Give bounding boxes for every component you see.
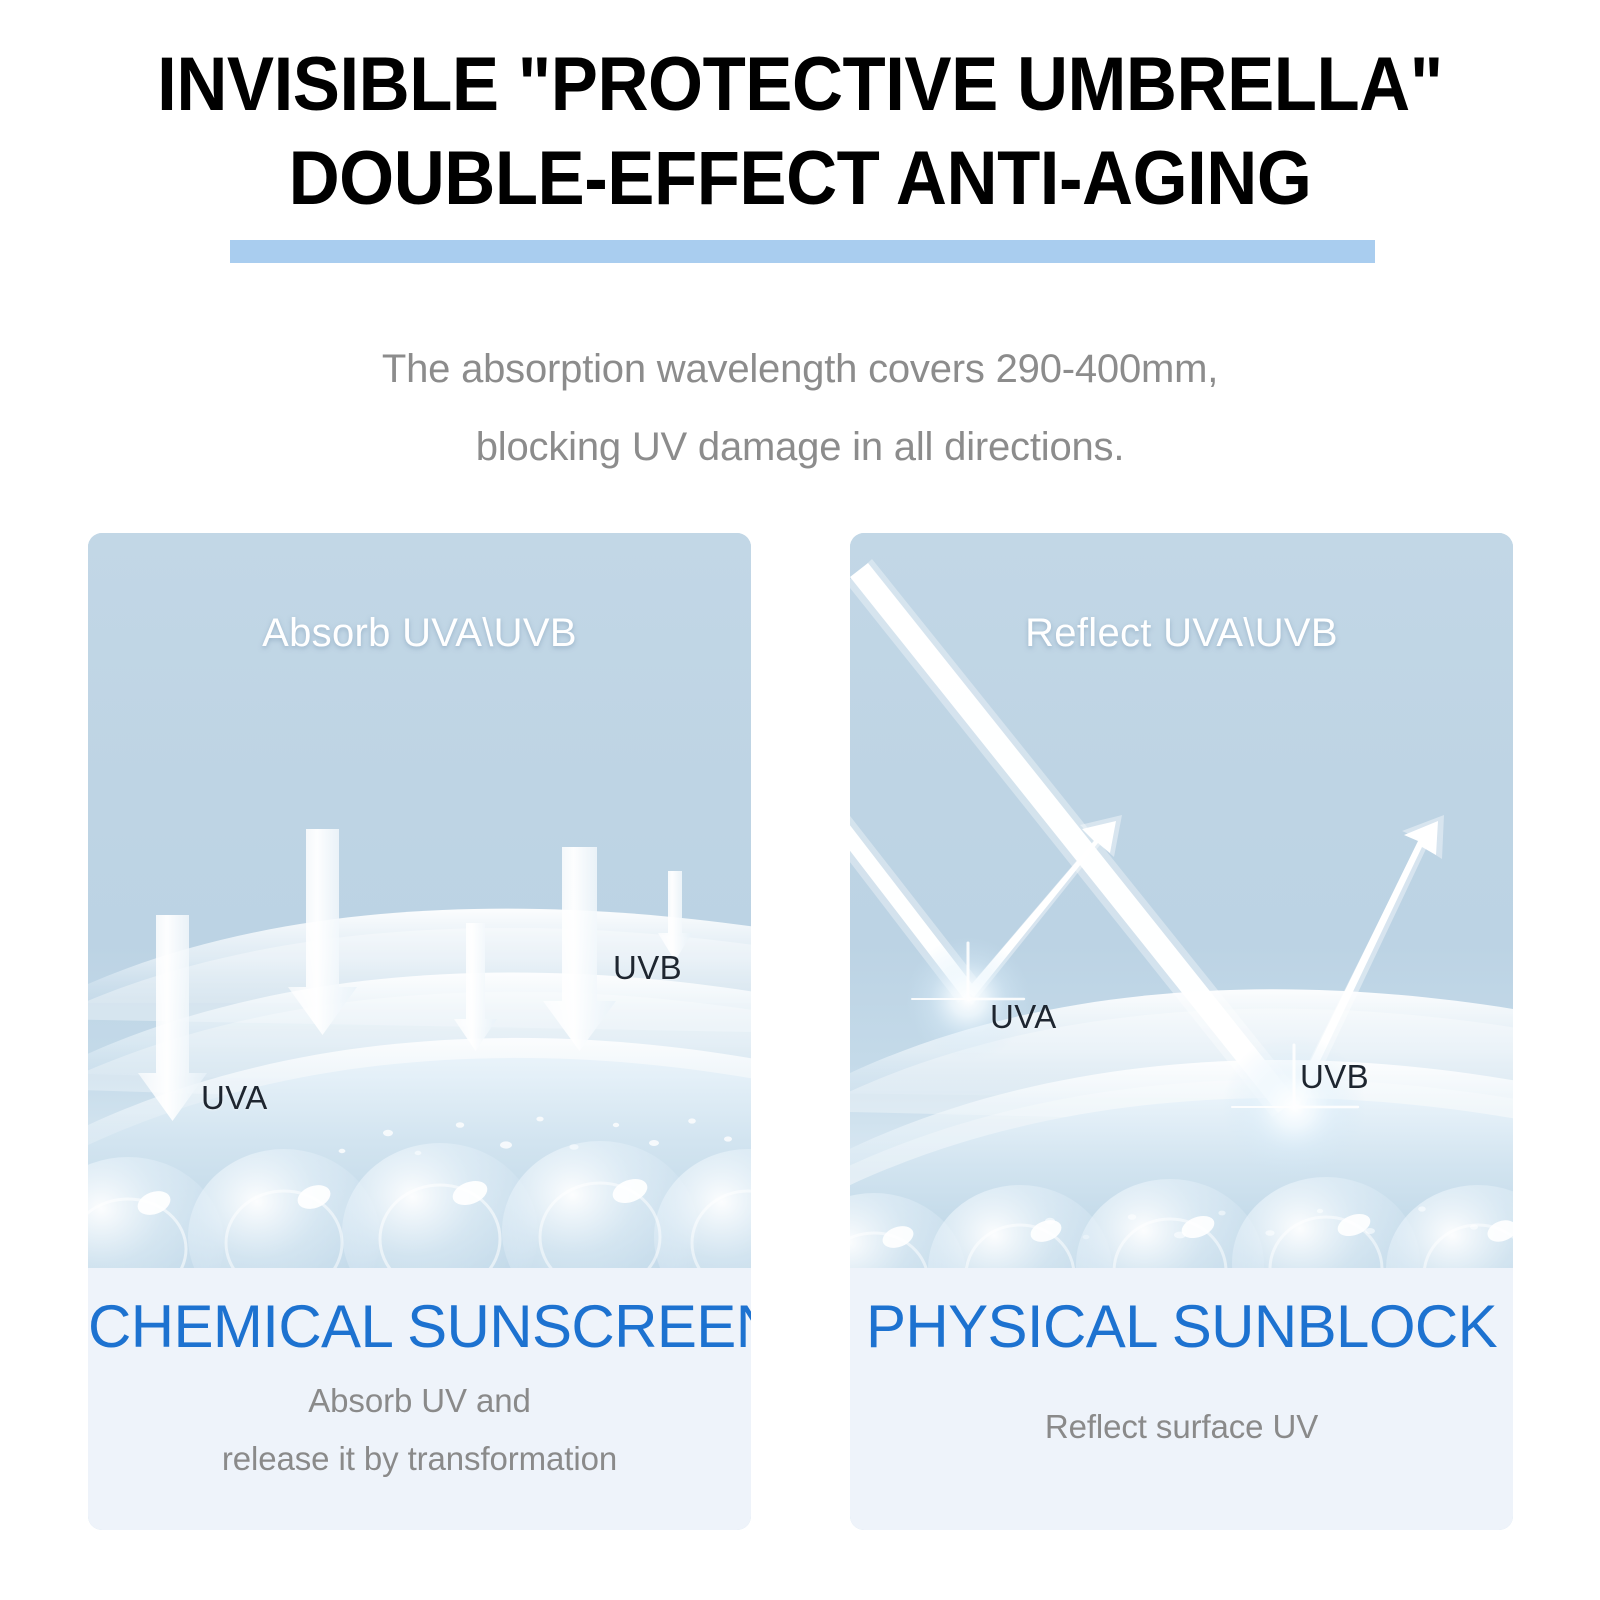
card-physical-sunblock[interactable]: Reflect UVA\UVB UVA UVB PHYSICAL SUNBLOC… (850, 533, 1513, 1530)
comparison-cards: Absorb UVA\UVB UVB UVA CHEMICAL SUNSCREE… (0, 533, 1600, 1533)
page-subtitle-line-1: The absorption wavelength covers 290-400… (0, 330, 1600, 408)
uva-label-physical: UVA (990, 998, 1057, 1036)
physical-illustration: Reflect UVA\UVB UVA UVB (850, 533, 1513, 1268)
physical-description: Reflect surface UV (850, 1398, 1513, 1456)
page-title: INVISIBLE "PROTECTIVE UMBRELLA" DOUBLE-E… (0, 38, 1600, 226)
physical-description-line-1: Reflect surface UV (850, 1398, 1513, 1456)
title-underline-bar (230, 240, 1375, 263)
page-subtitle-line-2: blocking UV damage in all directions. (0, 408, 1600, 486)
chemical-footer: CHEMICAL SUNSCREEN Absorb UV and release… (88, 1268, 751, 1530)
physical-heading: PHYSICAL SUNBLOCK (850, 1290, 1513, 1364)
chemical-heading: CHEMICAL SUNSCREEN (88, 1290, 751, 1364)
card-chemical-sunscreen[interactable]: Absorb UVA\UVB UVB UVA CHEMICAL SUNSCREE… (88, 533, 751, 1530)
page-title-line-2: DOUBLE-EFFECT ANTI-AGING (56, 132, 1544, 226)
page-title-line-1: INVISIBLE "PROTECTIVE UMBRELLA" (56, 38, 1544, 132)
physical-footer: PHYSICAL SUNBLOCK Reflect surface UV (850, 1268, 1513, 1530)
chemical-description: Absorb UV and release it by transformati… (88, 1372, 751, 1488)
chemical-description-line-1: Absorb UV and (88, 1372, 751, 1430)
uvb-label-physical: UVB (1300, 1058, 1369, 1096)
uva-label-chemical: UVA (201, 1079, 268, 1117)
physical-top-label: Reflect UVA\UVB (850, 611, 1513, 656)
chemical-illustration: Absorb UVA\UVB UVB UVA (88, 533, 751, 1268)
chemical-description-line-2: release it by transformation (88, 1430, 751, 1488)
header: INVISIBLE "PROTECTIVE UMBRELLA" DOUBLE-E… (0, 0, 1600, 500)
uvb-label-chemical: UVB (613, 949, 682, 987)
chemical-top-label: Absorb UVA\UVB (88, 611, 751, 656)
page-subtitle: The absorption wavelength covers 290-400… (0, 330, 1600, 486)
